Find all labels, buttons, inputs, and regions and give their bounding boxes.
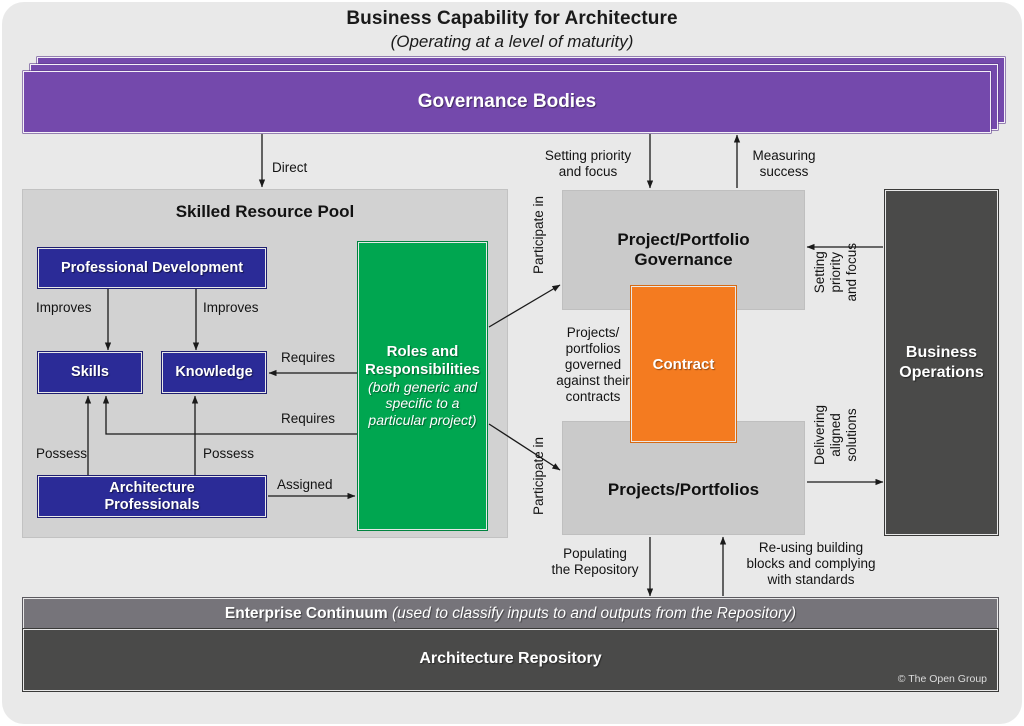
label-projects-governed-against-contracts: Projects/ portfolios governed against th… [553, 325, 633, 405]
architecture-professionals-label: Architecture Professionals [104, 480, 199, 513]
professional-development-box[interactable]: Professional Development [38, 248, 266, 288]
label-participate-in-upper: Participate in [531, 196, 547, 274]
knowledge-label: Knowledge [175, 364, 252, 381]
label-setting-priority-and-focus-right: Setting priority and focus [812, 243, 860, 302]
architecture-repository-label: Architecture Repository [24, 650, 997, 668]
projects-portfolios-label: Projects/Portfolios [563, 480, 804, 500]
label-requires-knowledge: Requires [281, 350, 335, 366]
label-delivering-aligned-solutions: Delivering aligned solutions [812, 405, 860, 465]
label-improves-knowledge: Improves [203, 300, 259, 316]
enterprise-continuum-label: Enterprise Continuum [225, 605, 388, 623]
roles-subtext: (both generic and specific to a particul… [368, 379, 477, 429]
professional-development-label: Professional Development [61, 260, 243, 277]
contract-box[interactable]: Contract [631, 286, 736, 442]
enterprise-continuum-bar[interactable]: Enterprise Continuum (used to classify i… [23, 598, 998, 629]
label-possess-skills: Possess [36, 446, 87, 462]
label-populating-the-repository: Populating the Repository [542, 546, 648, 578]
label-setting-priority-and-focus-top: Setting priority and focus [533, 148, 643, 180]
label-improves-skills: Improves [36, 300, 92, 316]
label-assigned: Assigned [277, 477, 333, 493]
roles-and-responsibilities-box[interactable]: Roles and Responsibilities (both generic… [358, 242, 487, 530]
project-portfolio-governance-label: Project/Portfolio Governance [563, 230, 804, 271]
label-requires-skills: Requires [281, 411, 335, 427]
architecture-professionals-box[interactable]: Architecture Professionals [38, 476, 266, 517]
skills-label: Skills [71, 364, 109, 381]
governance-bodies-box[interactable]: Governance Bodies [23, 71, 991, 133]
governance-bodies-label: Governance Bodies [418, 91, 596, 113]
label-possess-knowledge: Possess [203, 446, 254, 462]
page-title: Business Capability for Architecture [0, 8, 1024, 30]
roles-heading: Roles and Responsibilities [365, 343, 480, 378]
architecture-repository-bar[interactable]: Architecture Repository © The Open Group [23, 629, 998, 691]
copyright-notice: © The Open Group [898, 673, 987, 685]
label-direct: Direct [272, 160, 307, 176]
skills-box[interactable]: Skills [38, 352, 142, 393]
diagram-title-block: Business Capability for Architecture (Op… [0, 8, 1024, 52]
page-subtitle: (Operating at a level of maturity) [0, 32, 1024, 52]
knowledge-box[interactable]: Knowledge [162, 352, 266, 393]
skilled-resource-pool-title: Skilled Resource Pool [23, 202, 507, 222]
business-operations-box[interactable]: Business Operations [885, 190, 998, 535]
label-participate-in-lower: Participate in [531, 437, 547, 515]
diagram-canvas: Business Capability for Architecture (Op… [0, 0, 1024, 726]
enterprise-continuum-note: (used to classify inputs to and outputs … [392, 605, 796, 623]
label-measuring-success: Measuring success [744, 148, 824, 180]
contract-label: Contract [653, 356, 715, 373]
label-re-using-building-blocks: Re-using building blocks and complying w… [731, 540, 891, 588]
business-operations-label: Business Operations [899, 343, 983, 381]
